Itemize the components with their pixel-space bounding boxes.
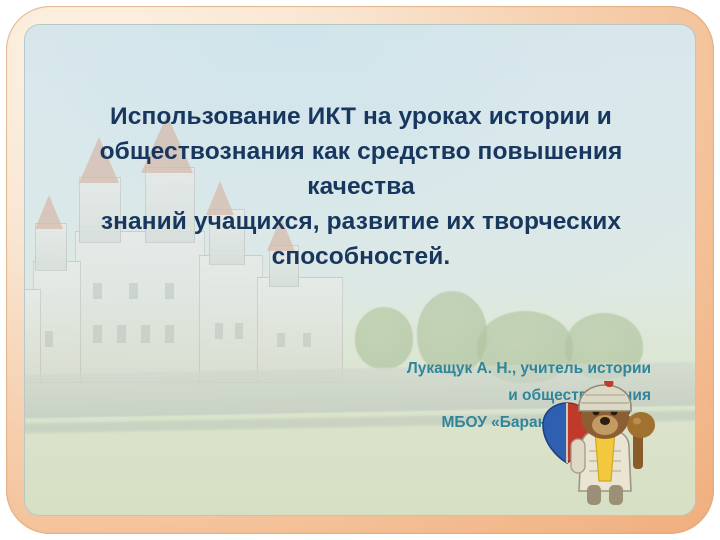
title-line: Использование ИКТ на уроках истории и [59, 99, 663, 134]
title-line: обществознания как средство повышения ка… [59, 134, 663, 204]
title-line: знаний учащихся, развитие их творческих [59, 204, 663, 239]
knight-bear-mascot-icon [537, 381, 673, 509]
title-line: способностей. [59, 239, 663, 274]
slide-content-panel: Использование ИКТ на уроках истории и об… [24, 24, 696, 516]
slide-title: Использование ИКТ на уроках истории и об… [59, 99, 663, 274]
presentation-slide: Использование ИКТ на уроках истории и об… [0, 0, 720, 540]
author-line: Лукащук А. Н., учитель истории [231, 355, 651, 382]
